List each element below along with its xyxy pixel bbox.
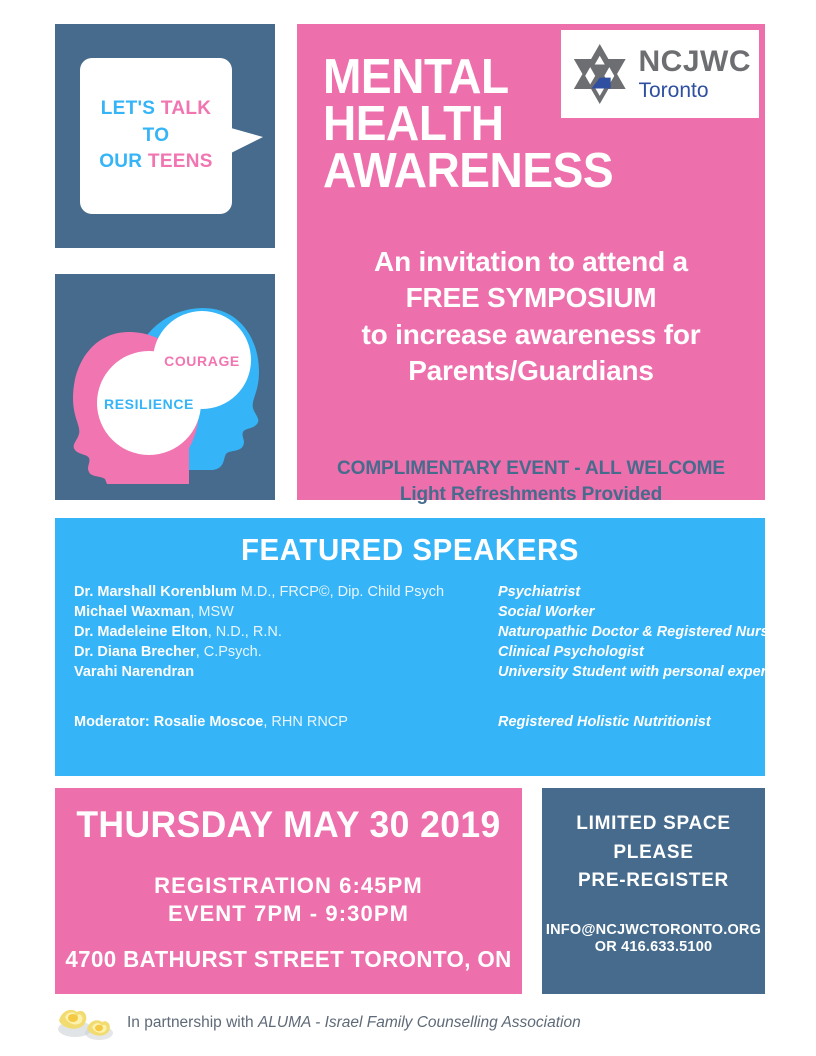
moderator-role: Registered Holistic Nutritionist: [498, 714, 711, 730]
star-of-david-icon: [567, 38, 633, 110]
bubble-line-1: LET'S TALK: [101, 96, 212, 123]
note-line-2: Light Refreshments Provided: [315, 482, 747, 508]
speaker-credentials-2: , N.D., R.N.: [208, 624, 282, 640]
bubble-line-3: OUR TEENS: [99, 149, 213, 176]
speaker-row: Dr. Marshall Korenblum M.D., FRCP©, Dip.…: [74, 584, 764, 604]
event-address: 4700 BATHURST STREET TORONTO, ON: [62, 946, 515, 973]
bubble-teens-text: TEENS: [148, 151, 213, 172]
bubble-lets-text: LET'S: [101, 98, 156, 119]
event-date: THURSDAY MAY 30 2019: [64, 804, 512, 846]
title-line-1: MENTAL: [323, 54, 577, 101]
moderator-credentials: , RHN RNCP: [263, 714, 348, 730]
courage-label: COURAGE: [164, 353, 240, 369]
register-line-2: PLEASE: [542, 839, 765, 868]
speaker-credentials-1: , MSW: [190, 604, 234, 620]
register-contact: INFO@NCJWCTORONTO.ORG OR 416.633.5100: [542, 922, 765, 957]
footer: In partnership with ALUMA - Israel Famil…: [55, 1000, 765, 1046]
invite-line-3: to increase awareness for: [315, 317, 747, 353]
speaker-role-4: University Student with personal experie…: [498, 664, 803, 680]
event-times: REGISTRATION 6:45PM EVENT 7PM - 9:30PM: [55, 872, 522, 928]
logo-name: NCJWC: [639, 47, 752, 77]
speaker-name-text-3: Dr. Diana Brecher: [74, 644, 196, 660]
speech-bubble: LET'S TALK TO OUR TEENS: [80, 58, 232, 214]
speaker-role-1: Social Worker: [498, 604, 594, 620]
speech-bubble-tail-icon: [231, 128, 263, 153]
invitation-text: An invitation to attend a FREE SYMPOSIUM…: [315, 244, 747, 390]
page-title: MENTAL HEALTH AWARENESS: [323, 54, 577, 195]
complimentary-note: COMPLIMENTARY EVENT - ALL WELCOME Light …: [315, 456, 747, 508]
ncjwc-logo: NCJWC Toronto: [561, 30, 759, 118]
pre-register-panel: LIMITED SPACE PLEASE PRE-REGISTER INFO@N…: [542, 788, 765, 994]
partner-name: ALUMA - Israel Family Counselling Associ…: [258, 1014, 581, 1031]
speaker-name-text-1: Michael Waxman: [74, 604, 190, 620]
title-line-2: HEALTH: [323, 101, 577, 148]
note-line-1: COMPLIMENTARY EVENT - ALL WELCOME: [315, 456, 747, 482]
registration-time: REGISTRATION 6:45PM: [55, 872, 522, 900]
partnership-text: In partnership with ALUMA - Israel Famil…: [127, 1014, 581, 1032]
speaker-name-text-4: Varahi Narendran: [74, 664, 194, 680]
speaker-credentials-0: M.D., FRCP©, Dip. Child Psych: [237, 584, 444, 600]
speaker-row: Michael Waxman, MSW Social Worker: [74, 604, 764, 624]
invite-line-4: Parents/Guardians: [315, 353, 747, 389]
partnership-prefix: In partnership with: [127, 1014, 258, 1031]
contact-phone[interactable]: OR 416.633.5100: [542, 939, 765, 956]
aluma-flower-icon: [55, 1003, 117, 1043]
speaker-row: Varahi Narendran University Student with…: [74, 664, 764, 684]
register-headline: LIMITED SPACE PLEASE PRE-REGISTER: [542, 810, 765, 896]
speaker-name-3: Dr. Diana Brecher, C.Psych.: [74, 644, 262, 660]
invite-line-2: FREE SYMPOSIUM: [315, 280, 747, 316]
moderator-name-text: Moderator: Rosalie Moscoe: [74, 714, 263, 730]
logo-city: Toronto: [639, 80, 752, 101]
register-line-3: PRE-REGISTER: [542, 867, 765, 896]
event-time: EVENT 7PM - 9:30PM: [55, 900, 522, 928]
speaker-name-text-0: Dr. Marshall Korenblum: [74, 584, 237, 600]
two-heads-icon: COURAGE RESILIENCE: [63, 288, 267, 488]
bubble-talk-text: TALK: [161, 98, 211, 119]
speaker-name-0: Dr. Marshall Korenblum M.D., FRCP©, Dip.…: [74, 584, 444, 600]
speaker-credentials-3: , C.Psych.: [196, 644, 262, 660]
speaker-name-4: Varahi Narendran: [74, 664, 194, 680]
bubble-our-text: OUR: [99, 151, 142, 172]
resilience-label: RESILIENCE: [104, 396, 194, 412]
speaker-row: Dr. Madeleine Elton, N.D., R.N. Naturopa…: [74, 624, 764, 644]
moderator-name: Moderator: Rosalie Moscoe, RHN RNCP: [74, 714, 348, 730]
speaker-role-0: Psychiatrist: [498, 584, 580, 600]
speech-bubble-panel: LET'S TALK TO OUR TEENS: [55, 24, 275, 248]
bubble-line-2: TO: [143, 123, 170, 150]
speaker-name-2: Dr. Madeleine Elton, N.D., R.N.: [74, 624, 282, 640]
invite-line-1: An invitation to attend a: [315, 244, 747, 280]
speaker-role-3: Clinical Psychologist: [498, 644, 644, 660]
register-line-1: LIMITED SPACE: [542, 810, 765, 839]
moderator-row: Moderator: Rosalie Moscoe, RHN RNCP Regi…: [74, 714, 764, 734]
speakers-title: FEATURED SPEAKERS: [73, 532, 748, 568]
speaker-row: Dr. Diana Brecher, C.Psych. Clinical Psy…: [74, 644, 764, 664]
speaker-role-2: Naturopathic Doctor & Registered Nurse: [498, 624, 777, 640]
contact-email[interactable]: INFO@NCJWCTORONTO.ORG: [542, 922, 765, 939]
speaker-name-text-2: Dr. Madeleine Elton: [74, 624, 208, 640]
featured-speakers-panel: FEATURED SPEAKERS Dr. Marshall Korenblum…: [55, 518, 765, 776]
title-line-3: AWARENESS: [323, 148, 577, 195]
event-date-panel: THURSDAY MAY 30 2019 REGISTRATION 6:45PM…: [55, 788, 522, 994]
speaker-name-1: Michael Waxman, MSW: [74, 604, 234, 620]
heads-illustration-panel: COURAGE RESILIENCE: [55, 274, 275, 500]
hero-panel: NCJWC Toronto MENTAL HEALTH AWARENESS An…: [297, 24, 765, 500]
